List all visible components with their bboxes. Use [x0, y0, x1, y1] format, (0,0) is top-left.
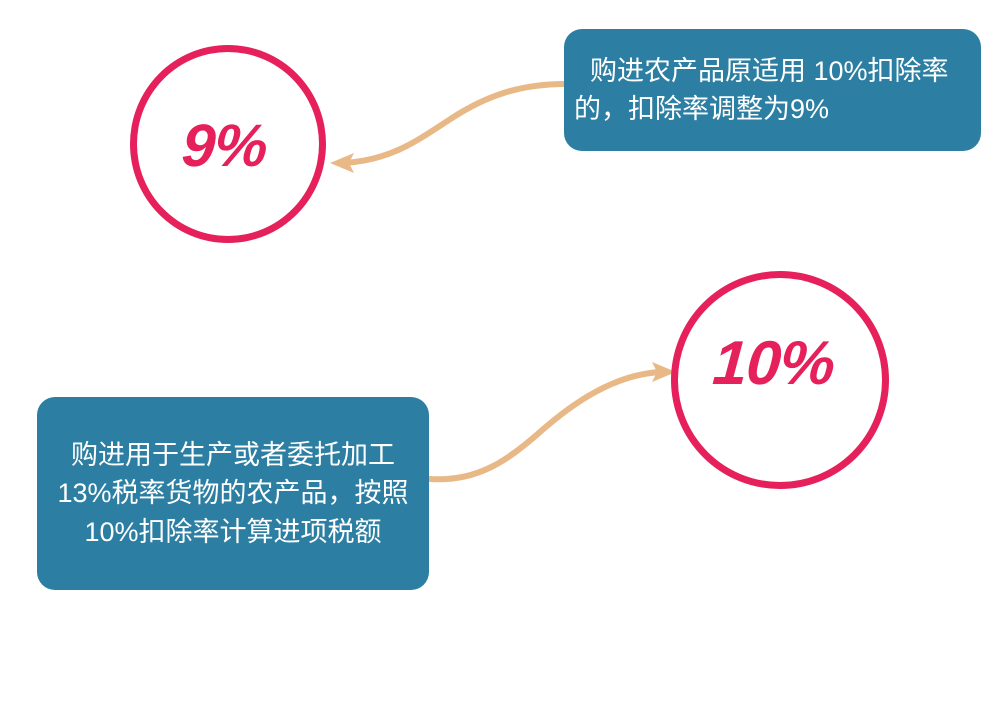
callout-box-bottom: 购进用于生产或者委托加工13%税率货物的农产品，按照10%扣除率计算进项税额: [37, 397, 429, 590]
rate-circle-ten: 10%: [671, 271, 889, 489]
arrow-bottom-connector: [430, 362, 676, 479]
arrow-head-left-icon: [330, 153, 354, 173]
arrow-top-connector: [330, 84, 565, 173]
rate-circle-nine-label: 9%: [180, 116, 269, 176]
rate-circle-ten-label: 10%: [711, 333, 836, 395]
rate-circle-nine: 9%: [130, 45, 326, 243]
callout-box-top-text: 购进农产品原适用 10%扣除率的，扣除率调整为9%: [564, 52, 981, 129]
callout-box-top: 购进农产品原适用 10%扣除率的，扣除率调整为9%: [564, 29, 981, 151]
infographic-canvas: 9% 10% 购进农产品原适用 10%扣除率的，扣除率调整为9% 购进用于生产或…: [0, 0, 997, 713]
callout-box-bottom-text: 购进用于生产或者委托加工13%税率货物的农产品，按照10%扣除率计算进项税额: [37, 436, 429, 551]
